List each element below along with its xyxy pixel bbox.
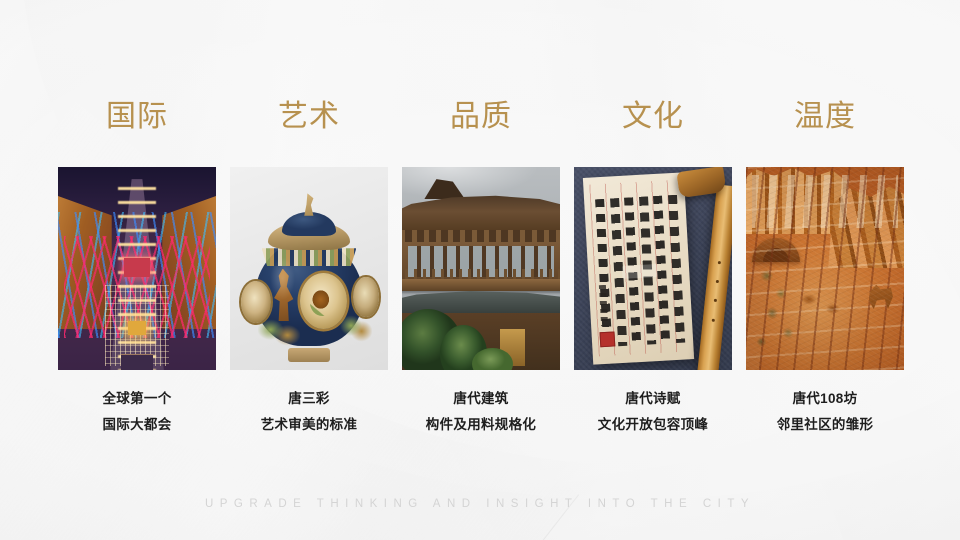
column-caption-international: 全球第一个 国际大都会 bbox=[58, 386, 216, 438]
photo-jar-foot bbox=[288, 348, 329, 362]
caption-line-2: 国际大都会 bbox=[58, 412, 216, 438]
caption-line-1: 全球第一个 bbox=[58, 386, 216, 412]
photo-gold-stage bbox=[128, 321, 147, 335]
column-image-art bbox=[230, 167, 388, 370]
column-heading-quality: 品质 bbox=[402, 96, 560, 138]
feature-column-culture: 文化 bbox=[574, 96, 732, 438]
photo-rice-paper-sheet bbox=[583, 172, 694, 364]
photo-edge-shading bbox=[746, 167, 904, 370]
caption-line-1: 唐代建筑 bbox=[402, 386, 560, 412]
caption-line-2: 邻里社区的雏形 bbox=[746, 412, 904, 438]
tang-dynasty-wooden-architecture-photo bbox=[402, 167, 560, 370]
column-caption-art: 唐三彩 艺术审美的标准 bbox=[230, 386, 388, 438]
feature-column-warmth: 温度 bbox=[746, 96, 904, 438]
feature-columns: 国际 bbox=[58, 96, 904, 438]
footer-tagline: UPGRADE THINKING AND INSIGHT INTO THE CI… bbox=[0, 498, 960, 510]
caption-line-2: 构件及用料规格化 bbox=[402, 412, 560, 438]
column-heading-culture: 文化 bbox=[574, 96, 732, 138]
feature-column-international: 国际 bbox=[58, 96, 216, 438]
photo-watermark-band bbox=[622, 264, 657, 279]
column-caption-culture: 唐代诗赋 文化开放包容顶峰 bbox=[574, 386, 732, 438]
caption-line-1: 唐三彩 bbox=[230, 386, 388, 412]
column-image-international bbox=[58, 167, 216, 370]
feature-column-quality: 品质 bbox=[402, 96, 560, 438]
photo-flute-hole bbox=[713, 299, 716, 302]
photo-flute-hole bbox=[711, 318, 714, 321]
photo-flute-hole bbox=[715, 280, 718, 283]
column-caption-quality: 唐代建筑 构件及用料规格化 bbox=[402, 386, 560, 438]
tang-sancai-glazed-jar-photo bbox=[230, 167, 388, 370]
slide-canvas: 国际 bbox=[0, 0, 960, 540]
photo-flute-hole bbox=[717, 262, 720, 265]
photo-foreground-plaza bbox=[121, 354, 153, 370]
photo-balcony-deck bbox=[402, 279, 560, 291]
photo-jar-foliage-right bbox=[337, 309, 372, 346]
column-image-quality bbox=[402, 167, 560, 370]
slide-content: 国际 bbox=[0, 0, 960, 540]
caption-line-2: 艺术审美的标准 bbox=[230, 412, 388, 438]
tang-poetry-calligraphy-scroll-photo bbox=[574, 167, 732, 370]
feature-column-art: 艺术 bbox=[230, 96, 388, 438]
column-heading-art: 艺术 bbox=[230, 96, 388, 138]
photo-jar-foliage-left bbox=[258, 313, 299, 350]
caption-line-2: 文化开放包容顶峰 bbox=[574, 412, 732, 438]
tang-west-market-night-aerial-photo bbox=[58, 167, 216, 370]
column-image-culture bbox=[574, 167, 732, 370]
tang-108-wards-city-model-photo bbox=[746, 167, 904, 370]
column-heading-warmth: 温度 bbox=[746, 96, 904, 138]
column-image-warmth bbox=[746, 167, 904, 370]
caption-line-1: 唐代诗赋 bbox=[574, 386, 732, 412]
photo-red-stage bbox=[124, 258, 149, 276]
photo-jar-highlight bbox=[265, 248, 300, 309]
caption-line-1: 唐代108坊 bbox=[746, 386, 904, 412]
photo-red-seal-stamp bbox=[600, 332, 616, 348]
column-caption-warmth: 唐代108坊 邻里社区的雏形 bbox=[746, 386, 904, 438]
column-heading-international: 国际 bbox=[58, 96, 216, 138]
